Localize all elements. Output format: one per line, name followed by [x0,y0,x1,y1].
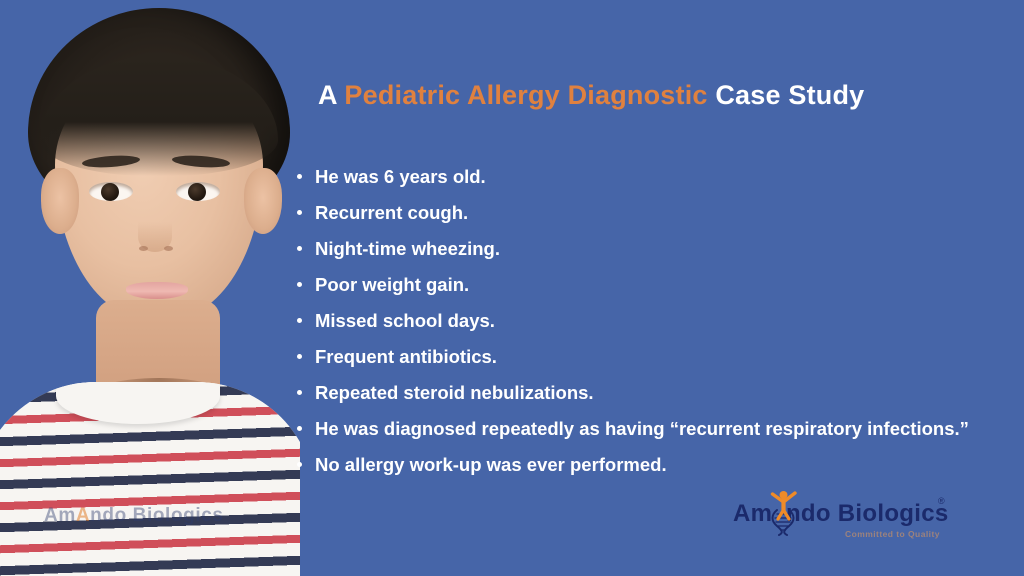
logo-name-trail: ndo Biologics [786,500,949,527]
page-title: A Pediatric Allergy Diagnostic Case Stud… [318,80,864,111]
logo-wordmark: Amando Biologics [733,500,949,528]
list-item-label: Recurrent cough. [315,202,468,223]
list-item: Poor weight gain. [296,274,1012,296]
bullet-dot-icon [297,390,302,395]
mouth-shape [126,282,188,299]
title-trail: Case Study [708,80,865,110]
left-nostril-shape [139,246,148,251]
list-item-label: No allergy work-up was ever performed. [315,454,667,475]
list-item-label: Frequent antibiotics. [315,346,497,367]
list-item-label: Missed school days. [315,310,495,331]
bullet-dot-icon [297,282,302,287]
list-item: Repeated steroid nebulizations. [296,382,1012,404]
list-item-label: He was diagnosed repeatedly as having “r… [315,418,969,439]
registered-trademark-icon: ® [938,496,945,506]
bullet-dot-icon [297,462,302,467]
list-item-label: Night-time wheezing. [315,238,500,259]
list-item: No allergy work-up was ever performed. [296,454,1012,476]
list-item: Frequent antibiotics. [296,346,1012,368]
slide-canvas: AmAndo Biologics A Pediatric Allergy Dia… [0,0,1024,576]
list-item: He was 6 years old. [296,166,1012,188]
list-item-label: Repeated steroid nebulizations. [315,382,594,403]
right-ear-shape [244,168,282,234]
photo-watermark-trail: ndo Biologics [90,505,223,526]
striped-shirt [0,382,300,576]
title-accent: Pediatric Allergy Diagnostic [344,80,707,110]
list-item: Missed school days. [296,310,1012,332]
left-iris-shape [101,183,119,201]
bullet-dot-icon [297,246,302,251]
list-item: He was diagnosed repeatedly as having “r… [296,418,1012,440]
logo-name-lead: Am [733,500,772,527]
photo-watermark: AmAndo Biologics [44,505,224,527]
logo-tagline: Committed to Quality [845,529,940,539]
left-ear-shape [41,168,79,234]
bullet-list: He was 6 years old. Recurrent cough. Nig… [296,166,1012,490]
right-eye-shape [176,182,220,201]
human-figure-dna-icon [769,488,799,536]
photo-watermark-figure-glyph: A [76,505,90,526]
list-item: Night-time wheezing. [296,238,1012,260]
title-lead: A [318,80,344,110]
boy-portrait-photo: AmAndo Biologics [0,0,300,576]
right-nostril-shape [164,246,173,251]
bullet-dot-icon [297,174,302,179]
amando-biologics-logo: Amando Biologics ® Committed to Quality [733,496,973,554]
bullet-dot-icon [297,210,302,215]
right-iris-shape [188,183,206,201]
list-item-label: He was 6 years old. [315,166,486,187]
bullet-dot-icon [297,426,302,431]
bullet-dot-icon [297,318,302,323]
list-item: Recurrent cough. [296,202,1012,224]
photo-watermark-lead: Am [44,505,76,526]
bullet-dot-icon [297,354,302,359]
list-item-label: Poor weight gain. [315,274,469,295]
left-eye-shape [89,182,133,201]
